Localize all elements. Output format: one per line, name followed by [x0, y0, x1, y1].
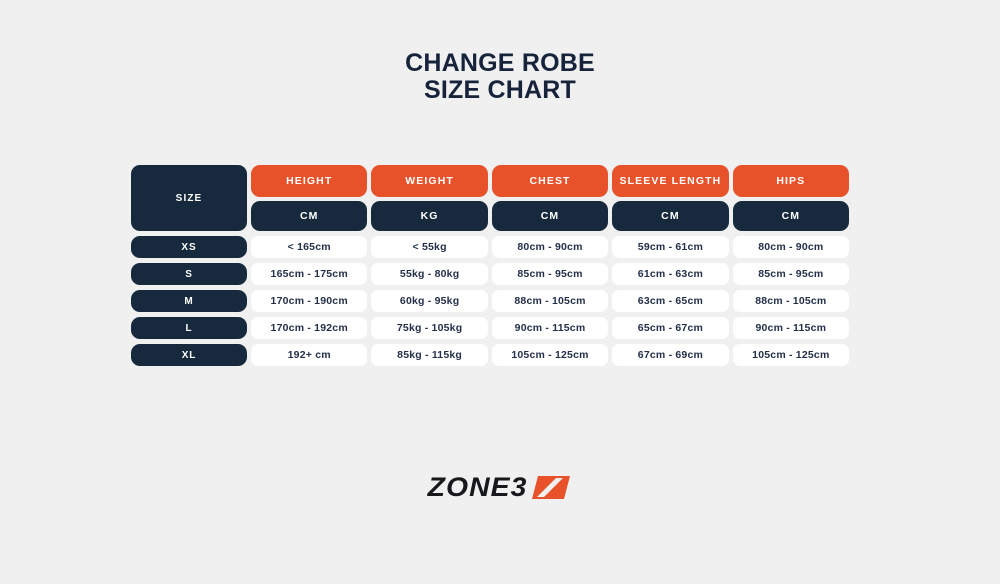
table-row: L 170cm - 192cm 75kg - 105kg 90cm - 115c…	[131, 317, 849, 339]
table-row: M 170cm - 190cm 60kg - 95kg 88cm - 105cm…	[131, 290, 849, 312]
cell-chest: 88cm - 105cm	[492, 290, 608, 312]
column-header-hips-unit: CM	[733, 201, 849, 231]
cell-sleeve-length: 67cm - 69cm	[612, 344, 728, 366]
cell-sleeve-length: 65cm - 67cm	[612, 317, 728, 339]
table-row: S 165cm - 175cm 55kg - 80kg 85cm - 95cm …	[131, 263, 849, 285]
cell-hips: 105cm - 125cm	[733, 344, 849, 366]
row-size-label: XS	[131, 236, 247, 258]
cell-height: 192+ cm	[251, 344, 367, 366]
zone3-slash-mark-icon	[532, 476, 570, 499]
measurement-column-headers: HEIGHT CM WEIGHT KG CHEST CM SLEEVE LENG…	[251, 165, 849, 231]
cell-weight: 60kg - 95kg	[371, 290, 487, 312]
column-header-weight-label: WEIGHT	[371, 165, 487, 197]
cell-height: 170cm - 190cm	[251, 290, 367, 312]
brand-wordmark: ZONE3	[428, 472, 528, 503]
cell-weight: 85kg - 115kg	[371, 344, 487, 366]
page-title-line-2: SIZE CHART	[0, 77, 1000, 104]
row-size-label: L	[131, 317, 247, 339]
row-values: 192+ cm 85kg - 115kg 105cm - 125cm 67cm …	[251, 344, 849, 366]
cell-sleeve-length: 59cm - 61cm	[612, 236, 728, 258]
row-values: 165cm - 175cm 55kg - 80kg 85cm - 95cm 61…	[251, 263, 849, 285]
column-header-chest-label: CHEST	[492, 165, 608, 197]
cell-chest: 80cm - 90cm	[492, 236, 608, 258]
row-values: 170cm - 192cm 75kg - 105kg 90cm - 115cm …	[251, 317, 849, 339]
brand-logo: ZONE3	[0, 472, 1000, 503]
cell-weight: 75kg - 105kg	[371, 317, 487, 339]
column-header-sleeve-length-unit: CM	[612, 201, 728, 231]
table-header: SIZE HEIGHT CM WEIGHT KG CHEST CM SLEEVE…	[131, 165, 849, 231]
page-title: CHANGE ROBE SIZE CHART	[0, 50, 1000, 104]
cell-hips: 88cm - 105cm	[733, 290, 849, 312]
column-header-sleeve-length-label: SLEEVE LENGTH	[612, 165, 728, 197]
column-header-chest-unit: CM	[492, 201, 608, 231]
cell-height: < 165cm	[251, 236, 367, 258]
column-header-hips-label: HIPS	[733, 165, 849, 197]
column-header-hips: HIPS CM	[733, 165, 849, 231]
row-size-label: M	[131, 290, 247, 312]
column-header-weight: WEIGHT KG	[371, 165, 487, 231]
column-header-weight-unit: KG	[371, 201, 487, 231]
cell-sleeve-length: 63cm - 65cm	[612, 290, 728, 312]
cell-sleeve-length: 61cm - 63cm	[612, 263, 728, 285]
column-header-height-unit: CM	[251, 201, 367, 231]
row-values: 170cm - 190cm 60kg - 95kg 88cm - 105cm 6…	[251, 290, 849, 312]
cell-height: 170cm - 192cm	[251, 317, 367, 339]
table-body: XS < 165cm < 55kg 80cm - 90cm 59cm - 61c…	[131, 236, 849, 366]
row-size-label: S	[131, 263, 247, 285]
table-row: XL 192+ cm 85kg - 115kg 105cm - 125cm 67…	[131, 344, 849, 366]
cell-hips: 85cm - 95cm	[733, 263, 849, 285]
row-size-label: XL	[131, 344, 247, 366]
size-chart-table: SIZE HEIGHT CM WEIGHT KG CHEST CM SLEEVE…	[131, 165, 849, 366]
cell-chest: 90cm - 115cm	[492, 317, 608, 339]
cell-chest: 85cm - 95cm	[492, 263, 608, 285]
cell-hips: 90cm - 115cm	[733, 317, 849, 339]
row-values: < 165cm < 55kg 80cm - 90cm 59cm - 61cm 8…	[251, 236, 849, 258]
page-title-line-1: CHANGE ROBE	[0, 50, 1000, 77]
column-header-height: HEIGHT CM	[251, 165, 367, 231]
column-header-size: SIZE	[131, 165, 247, 231]
cell-weight: < 55kg	[371, 236, 487, 258]
cell-chest: 105cm - 125cm	[492, 344, 608, 366]
cell-weight: 55kg - 80kg	[371, 263, 487, 285]
column-header-chest: CHEST CM	[492, 165, 608, 231]
column-header-sleeve-length: SLEEVE LENGTH CM	[612, 165, 728, 231]
cell-height: 165cm - 175cm	[251, 263, 367, 285]
cell-hips: 80cm - 90cm	[733, 236, 849, 258]
table-row: XS < 165cm < 55kg 80cm - 90cm 59cm - 61c…	[131, 236, 849, 258]
column-header-height-label: HEIGHT	[251, 165, 367, 197]
